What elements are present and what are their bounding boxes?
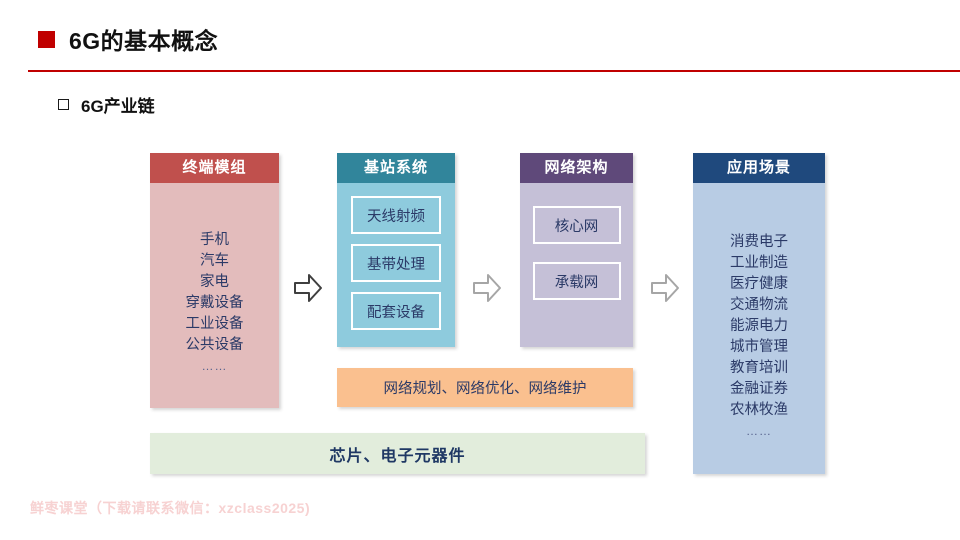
column-header-application: 应用场景	[693, 153, 825, 183]
list-item: 工业制造	[693, 253, 825, 274]
list-item: 金融证券	[693, 379, 825, 400]
list-item: 穿戴设备	[150, 293, 279, 314]
footer-watermark: 鲜枣课堂（下载请联系微信：xzclass2025)	[30, 498, 310, 518]
list-item: 能源电力	[693, 316, 825, 337]
chain-column-basestation: 基站系统 天线射频 基带处理 配套设备	[337, 153, 455, 347]
list-item-ellipsis: ……	[693, 421, 825, 442]
list-item: 农林牧渔	[693, 400, 825, 421]
column-header-basestation: 基站系统	[337, 153, 455, 183]
column-body-basestation: 天线射频 基带处理 配套设备	[337, 183, 455, 330]
list-item: 消费电子	[693, 232, 825, 253]
chain-column-terminal: 终端模组 手机 汽车 家电 穿戴设备 工业设备 公共设备 ……	[150, 153, 279, 408]
sub-box-item: 配套设备	[351, 292, 441, 330]
list-item: 公共设备	[150, 335, 279, 356]
sub-box-item: 承载网	[533, 262, 621, 300]
sub-box-item: 核心网	[533, 206, 621, 244]
list-item: 教育培训	[693, 358, 825, 379]
chain-column-network: 网络架构 核心网 承载网	[520, 153, 633, 347]
list-item: 交通物流	[693, 295, 825, 316]
list-item: 城市管理	[693, 337, 825, 358]
column-body-application: 消费电子 工业制造 医疗健康 交通物流 能源电力 城市管理 教育培训 金融证券 …	[693, 183, 825, 442]
chain-bar-service: 网络规划、网络优化、网络维护	[337, 368, 633, 407]
column-header-terminal: 终端模组	[150, 153, 279, 183]
column-body-terminal: 手机 汽车 家电 穿戴设备 工业设备 公共设备 ……	[150, 183, 279, 377]
sub-box-item: 天线射频	[351, 196, 441, 234]
list-item-ellipsis: ……	[150, 356, 279, 377]
list-item: 汽车	[150, 251, 279, 272]
flow-arrow-right-icon	[650, 271, 680, 305]
column-body-network: 核心网 承载网	[520, 183, 633, 300]
flow-arrow-right-icon	[472, 271, 502, 305]
list-item: 工业设备	[150, 314, 279, 335]
list-item: 家电	[150, 272, 279, 293]
flow-arrow-right-icon	[293, 271, 323, 305]
chain-bar-chip: 芯片、电子元器件	[150, 433, 645, 474]
chain-column-application: 应用场景 消费电子 工业制造 医疗健康 交通物流 能源电力 城市管理 教育培训 …	[693, 153, 825, 474]
sub-box-item: 基带处理	[351, 244, 441, 282]
list-item: 医疗健康	[693, 274, 825, 295]
column-header-network: 网络架构	[520, 153, 633, 183]
list-item: 手机	[150, 230, 279, 251]
industry-chain-diagram: 终端模组 手机 汽车 家电 穿戴设备 工业设备 公共设备 …… 基站系统 天线射…	[0, 0, 960, 540]
